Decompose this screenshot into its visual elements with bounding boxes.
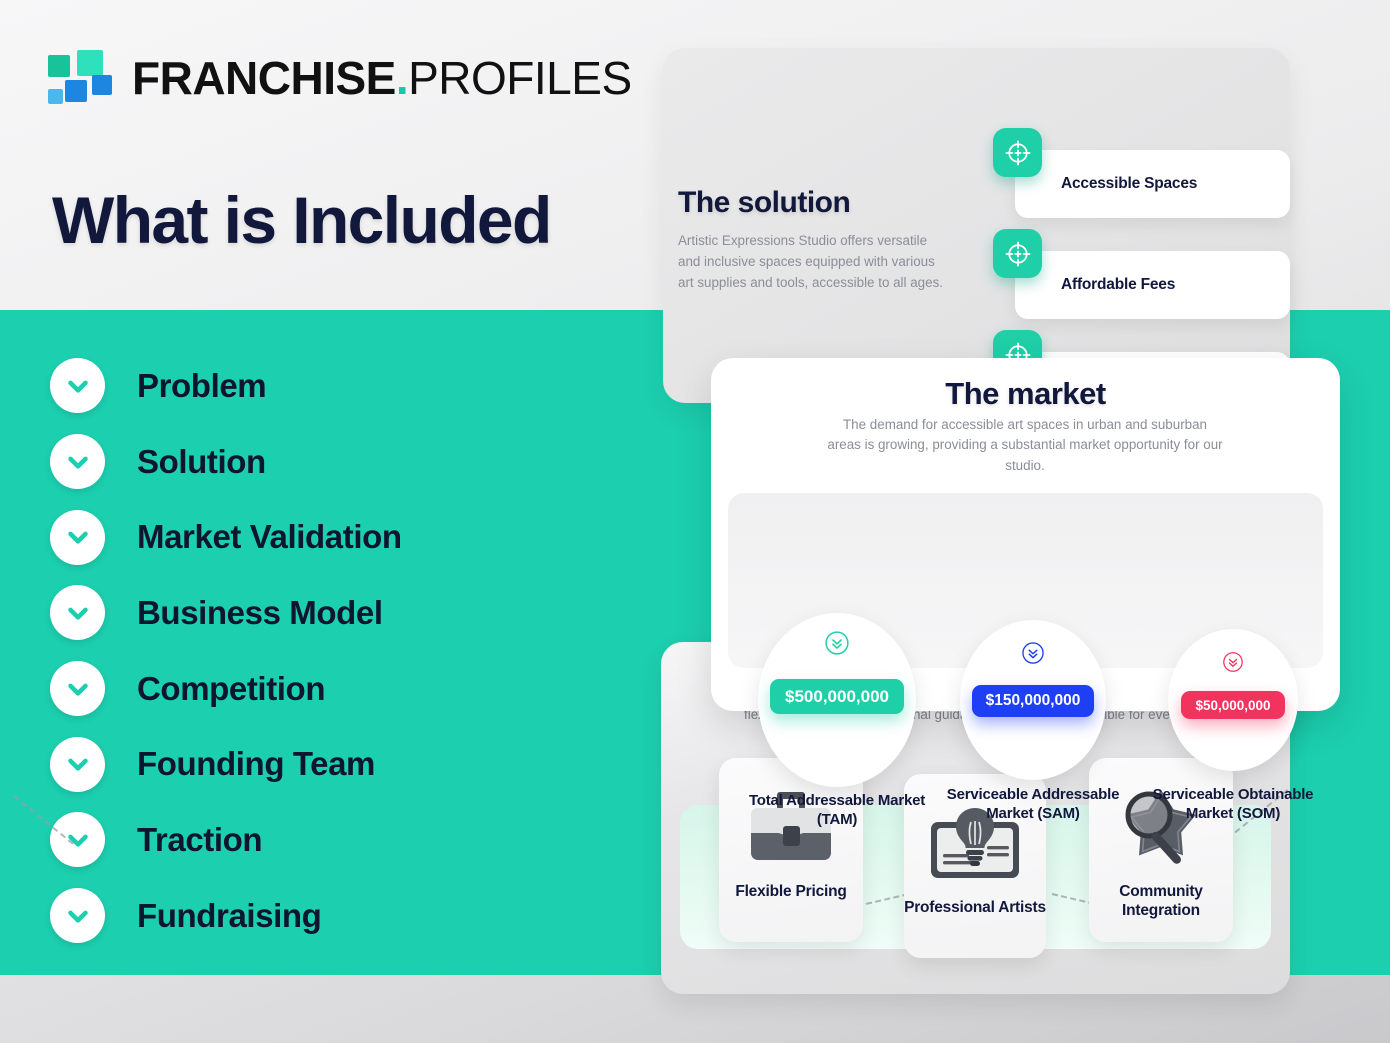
double-chevron-down-circle-icon xyxy=(1222,651,1244,678)
double-chevron-down-circle-icon xyxy=(1021,641,1045,670)
market-segment-value-badge: $150,000,000 xyxy=(972,685,1094,717)
chevron-down-icon xyxy=(50,510,105,565)
solution-item-label: Affordable Fees xyxy=(1061,276,1175,294)
market-segment-name: Serviceable Addressable Market (SAM) xyxy=(938,785,1128,823)
brand-logo[interactable]: FRANCHISE.PROFILES xyxy=(48,50,632,106)
feature-card-label: Community Integration xyxy=(1089,882,1233,921)
feature-card-label: Professional Artists xyxy=(904,898,1046,917)
checklist-item-traction[interactable]: Traction xyxy=(50,802,610,878)
checklist-item-label: Solution xyxy=(137,443,266,481)
chevron-down-icon xyxy=(50,737,105,792)
checklist-item-label: Business Model xyxy=(137,594,383,632)
checklist-item-label: Traction xyxy=(137,821,262,859)
chevron-down-icon xyxy=(50,888,105,943)
checklist-item-founding-team[interactable]: Founding Team xyxy=(50,726,610,802)
checklist-item-label: Fundraising xyxy=(137,897,321,935)
checklist-item-label: Market Validation xyxy=(137,518,402,556)
solution-item[interactable]: Affordable Fees xyxy=(993,251,1290,319)
checklist-item-problem[interactable]: Problem xyxy=(50,348,610,424)
crosshair-target-icon xyxy=(993,229,1042,278)
market-segment-value-badge: $50,000,000 xyxy=(1181,691,1285,719)
checklist-item-solution[interactable]: Solution xyxy=(50,424,610,500)
checklist-item-label: Founding Team xyxy=(137,745,375,783)
double-chevron-down-circle-icon xyxy=(824,630,850,661)
solution-description: Artistic Expressions Studio offers versa… xyxy=(678,231,953,293)
checklist-item-fundraising[interactable]: Fundraising xyxy=(50,878,610,954)
market-segment-name: Serviceable Obtainable Market (SOM) xyxy=(1138,785,1328,823)
market-segment-name: Total Addressable Market (TAM) xyxy=(742,791,932,829)
brand-name-thin: PROFILES xyxy=(408,52,632,104)
squares-logo-icon xyxy=(48,50,110,106)
crosshair-target-icon xyxy=(993,128,1042,177)
chevron-down-icon xyxy=(50,812,105,867)
brand-wordmark: FRANCHISE.PROFILES xyxy=(132,55,632,101)
checklist-item-business-model[interactable]: Business Model xyxy=(50,575,610,651)
chevron-down-icon xyxy=(50,661,105,716)
market-card: The market The demand for accessible art… xyxy=(711,358,1340,711)
solution-title: The solution xyxy=(678,186,850,220)
included-checklist: ProblemSolutionMarket ValidationBusiness… xyxy=(50,348,610,954)
page-title: What is Included xyxy=(52,186,551,255)
market-title: The market xyxy=(711,376,1340,412)
chevron-down-icon xyxy=(50,434,105,489)
checklist-item-competition[interactable]: Competition xyxy=(50,651,610,727)
checklist-item-label: Competition xyxy=(137,670,325,708)
solution-card: The solution Artistic Expressions Studio… xyxy=(663,48,1290,403)
market-tray: $500,000,000Total Addressable Market (TA… xyxy=(728,493,1323,668)
brand-name-dot: . xyxy=(396,52,408,104)
market-description: The demand for accessible art spaces in … xyxy=(825,415,1225,476)
market-segment-value-badge: $500,000,000 xyxy=(770,679,904,714)
solution-item-label: Accessible Spaces xyxy=(1061,175,1197,193)
checklist-item-label: Problem xyxy=(137,367,266,405)
solution-item[interactable]: Accessible Spaces xyxy=(993,150,1290,218)
feature-card-label: Flexible Pricing xyxy=(735,882,846,901)
checklist-item-market-validation[interactable]: Market Validation xyxy=(50,499,610,575)
chevron-down-icon xyxy=(50,585,105,640)
chevron-down-icon xyxy=(50,358,105,413)
brand-name-bold: FRANCHISE xyxy=(132,52,396,104)
